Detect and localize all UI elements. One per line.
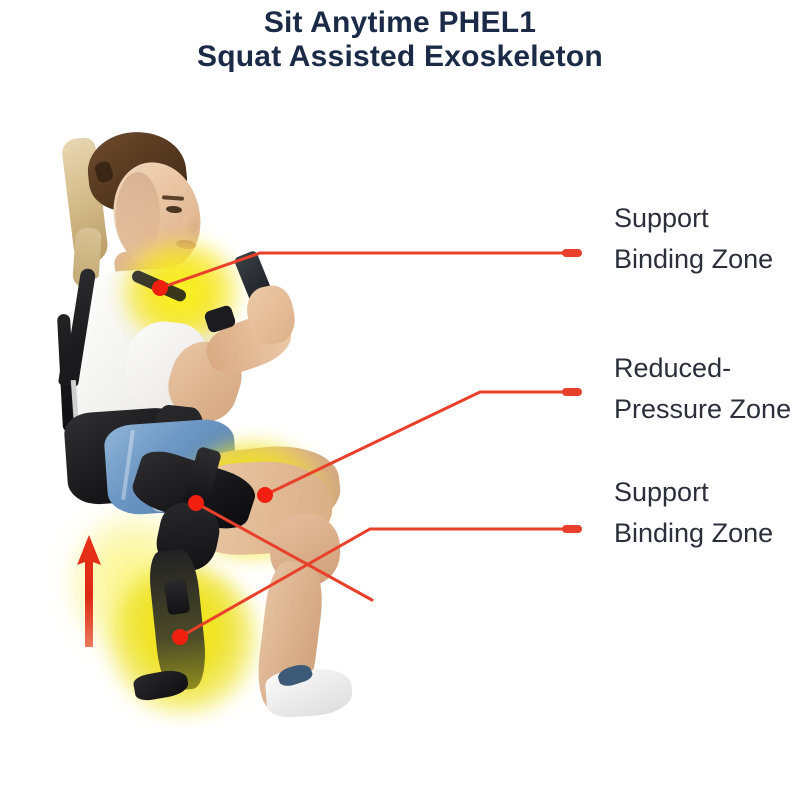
callout-2-line-1: Reduced- <box>614 348 791 389</box>
callout-1-line-1: Support <box>614 198 773 239</box>
leader-line-end-caps <box>566 253 578 529</box>
title-line-2: Squat Assisted Exoskeleton <box>0 40 800 74</box>
callout-2-line-2: Pressure Zone <box>614 389 791 430</box>
callout-label-support-binding-zone-upper: Support Binding Zone <box>614 198 773 280</box>
callout-label-reduced-pressure-zone: Reduced- Pressure Zone <box>614 348 791 430</box>
callout-3-line-1: Support <box>614 472 773 513</box>
nose <box>182 216 198 234</box>
callout-3-line-2: Binding Zone <box>614 513 773 554</box>
product-photo <box>30 110 360 720</box>
infographic-canvas: Sit Anytime PHEL1 Squat Assisted Exoskel… <box>0 0 800 800</box>
callout-label-support-binding-zone-lower: Support Binding Zone <box>614 472 773 554</box>
upward-force-arrow-icon <box>76 535 102 647</box>
title-line-1: Sit Anytime PHEL1 <box>0 6 800 40</box>
page-title: Sit Anytime PHEL1 Squat Assisted Exoskel… <box>0 6 800 74</box>
callout-1-line-2: Binding Zone <box>614 239 773 280</box>
calf-binding-strap <box>164 579 191 616</box>
